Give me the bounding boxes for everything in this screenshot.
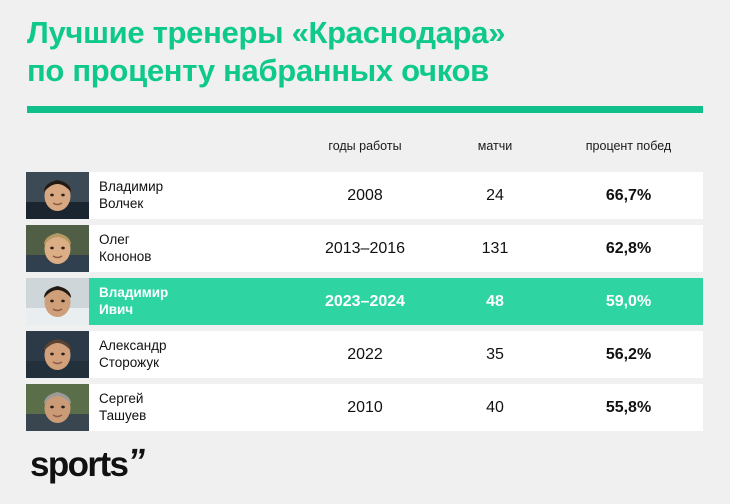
column-header-years: годы работы xyxy=(294,138,436,154)
coach-photo xyxy=(26,278,89,325)
coach-games-cell: 24 xyxy=(436,172,554,219)
coach-years-cell: 2022 xyxy=(294,331,436,378)
coach-first-name: Сергей xyxy=(99,391,294,408)
coach-last-name: Сторожук xyxy=(99,355,294,372)
coach-last-name: Кононов xyxy=(99,249,294,266)
sports-logo: sports ” xyxy=(30,447,146,483)
coach-games-cell: 40 xyxy=(436,384,554,431)
coach-games-cell: 35 xyxy=(436,331,554,378)
coach-name-cell: ВладимирИвич xyxy=(89,278,294,325)
table-row[interactable]: ВладимирВолчек20082466,7% xyxy=(26,172,703,219)
page-title: Лучшие тренеры «Краснодара» по проценту … xyxy=(27,14,703,90)
coach-years-cell: 2008 xyxy=(294,172,436,219)
table-row[interactable]: ОлегКононов2013–201613162,8% xyxy=(26,225,703,272)
coach-photo xyxy=(26,384,89,431)
table-header-row: годы работы матчи процент побед xyxy=(26,133,703,159)
table-row[interactable]: АлександрСторожук20223556,2% xyxy=(26,331,703,378)
page-title-line-2: по проценту набранных очков xyxy=(27,52,703,90)
coach-photo xyxy=(26,225,89,272)
coach-name-cell: ВладимирВолчек xyxy=(89,172,294,219)
coach-last-name: Ивич xyxy=(99,302,294,319)
coach-years-cell: 2013–2016 xyxy=(294,225,436,272)
coach-first-name: Владимир xyxy=(99,285,294,302)
coach-games-cell: 48 xyxy=(436,278,554,325)
coach-games-cell: 131 xyxy=(436,225,554,272)
coach-photo xyxy=(26,172,89,219)
coach-percent-cell: 62,8% xyxy=(554,225,703,272)
coach-name-cell: СергейТашуев xyxy=(89,384,294,431)
table-row[interactable]: ВладимирИвич2023–20244859,0% xyxy=(26,278,703,325)
column-header-percent: процент побед xyxy=(554,138,703,154)
coach-years-cell: 2010 xyxy=(294,384,436,431)
coach-percent-cell: 55,8% xyxy=(554,384,703,431)
coach-first-name: Александр xyxy=(99,338,294,355)
coach-percent-cell: 66,7% xyxy=(554,172,703,219)
coach-last-name: Ташуев xyxy=(99,408,294,425)
column-header-games: матчи xyxy=(436,138,554,154)
coach-photo xyxy=(26,331,89,378)
title-underline-rule xyxy=(27,106,703,113)
coach-first-name: Владимир xyxy=(99,179,294,196)
table-body: ВладимирВолчек20082466,7% ОлегКононов201… xyxy=(26,172,703,431)
coach-percent-cell: 56,2% xyxy=(554,331,703,378)
page-title-line-1: Лучшие тренеры «Краснодара» xyxy=(27,14,703,52)
sports-logo-quote-mark: ” xyxy=(126,447,148,477)
sports-logo-wordmark: sports xyxy=(30,447,127,483)
coach-years-cell: 2023–2024 xyxy=(294,278,436,325)
coach-name-cell: АлександрСторожук xyxy=(89,331,294,378)
coach-last-name: Волчек xyxy=(99,196,294,213)
table-row[interactable]: СергейТашуев20104055,8% xyxy=(26,384,703,431)
coach-first-name: Олег xyxy=(99,232,294,249)
coach-percent-cell: 59,0% xyxy=(554,278,703,325)
coach-name-cell: ОлегКононов xyxy=(89,225,294,272)
